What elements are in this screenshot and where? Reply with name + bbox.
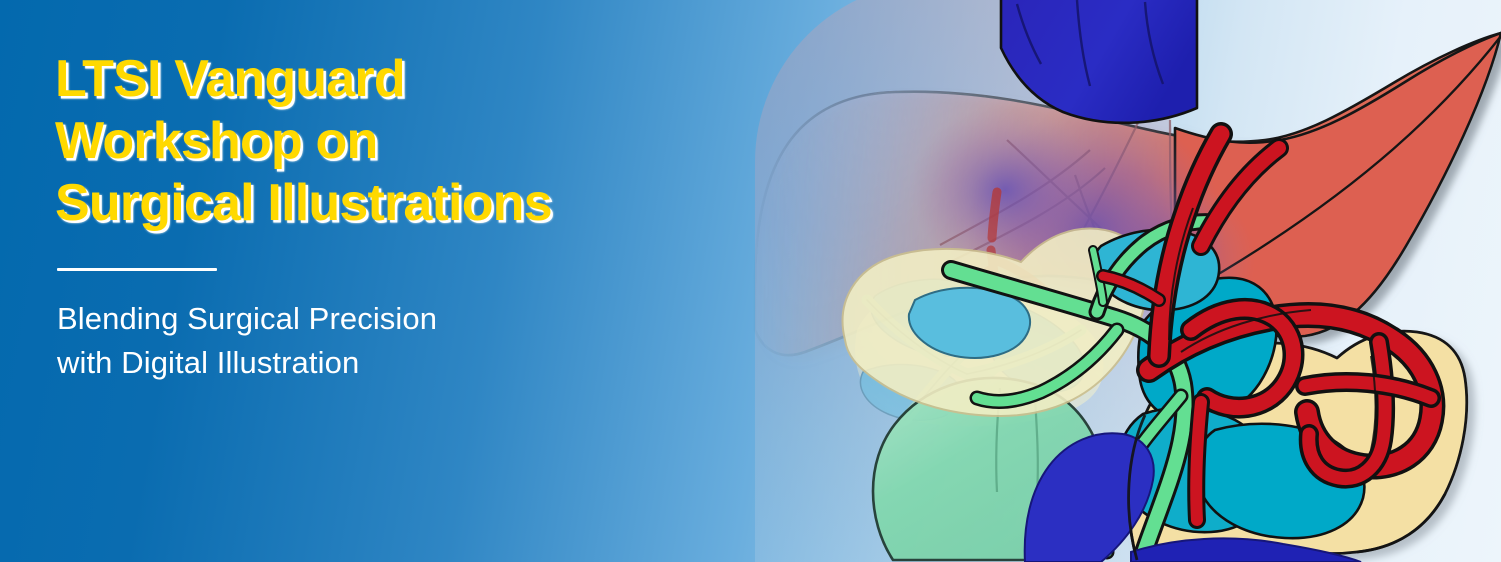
banner-text-block: LTSI Vanguard Workshop on Surgical Illus… bbox=[55, 48, 735, 385]
workshop-banner: LTSI Vanguard Workshop on Surgical Illus… bbox=[0, 0, 1501, 562]
page-title: LTSI Vanguard Workshop on Surgical Illus… bbox=[55, 48, 735, 234]
hepatobiliary-anatomy-illustration bbox=[745, 0, 1501, 562]
page-subtitle: Blending Surgical Precision with Digital… bbox=[57, 297, 735, 385]
title-divider bbox=[57, 268, 217, 271]
